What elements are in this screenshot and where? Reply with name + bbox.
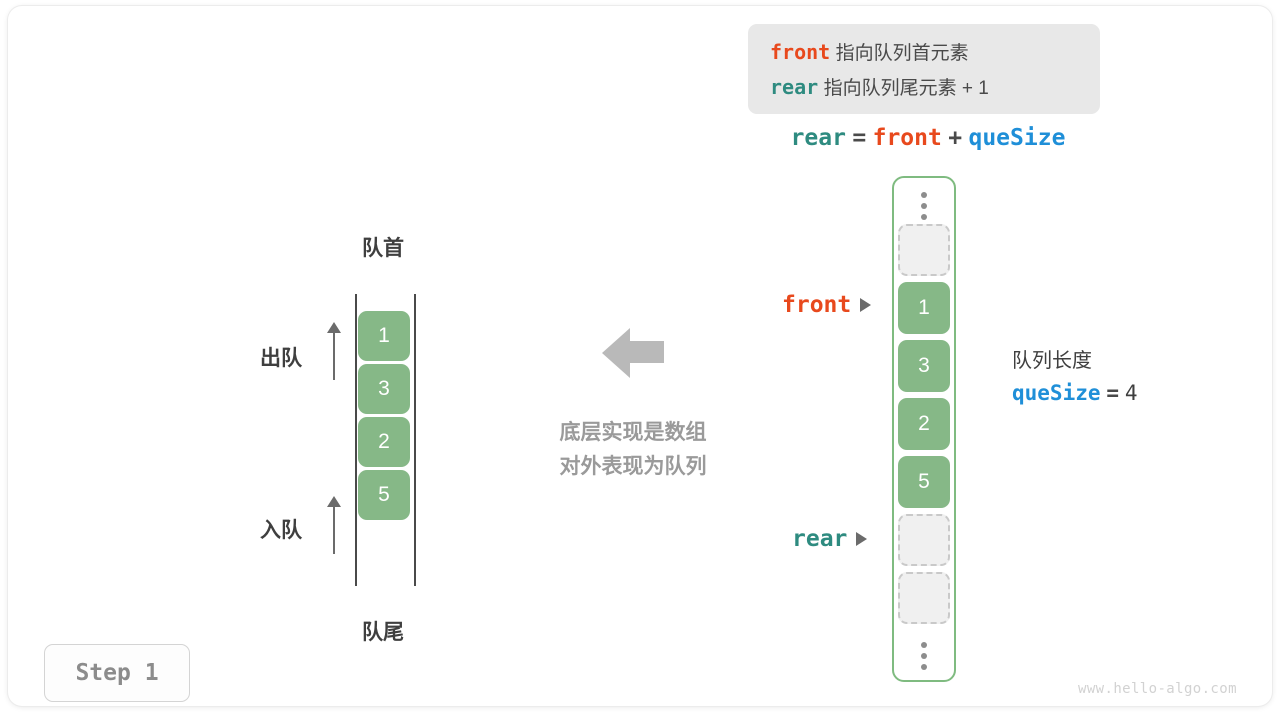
- queue-cell-3-value: 5: [378, 483, 390, 507]
- diagram-canvas: front 指向队列首元素 rear 指向队列尾元素 + 1 rear = fr…: [8, 6, 1272, 706]
- rear-pointer-label: rear: [792, 526, 847, 552]
- dequeue-label: 出队: [260, 342, 302, 372]
- arrow-right-icon: [856, 532, 867, 546]
- queue-cell-2-value: 2: [378, 430, 390, 454]
- array-container: 1 3 2 5: [892, 176, 956, 682]
- queue-cell-1: 3: [358, 364, 410, 414]
- array-cell-1: 1: [898, 282, 950, 334]
- center-caption-line1: 底层实现是数组: [508, 416, 758, 450]
- queue-cell-3: 5: [358, 470, 410, 520]
- formula-front: front: [873, 125, 942, 151]
- array-cell-4: 5: [898, 456, 950, 508]
- rear-description: 指向队列尾元素 + 1: [824, 78, 989, 99]
- queue-rail-right: [414, 294, 416, 586]
- queue-size-expression: queSize = 4: [1012, 376, 1138, 411]
- queue-size-title: 队列长度: [1012, 346, 1138, 376]
- note-line-front: front 指向队列首元素: [770, 35, 1100, 70]
- queue-head-label: 队首: [318, 232, 448, 262]
- front-pointer: front: [782, 292, 871, 318]
- note-line-rear: rear 指向队列尾元素 + 1: [770, 70, 1100, 105]
- array-cell-0: [898, 224, 950, 276]
- enqueue-label: 入队: [260, 514, 302, 544]
- center-caption-line2: 对外表现为队列: [508, 450, 758, 484]
- rear-pointer: rear: [792, 526, 867, 552]
- queue-cell-2: 2: [358, 417, 410, 467]
- pointer-definition-note: front 指向队列首元素 rear 指向队列尾元素 + 1: [748, 24, 1100, 114]
- array-cell-4-value: 5: [918, 470, 930, 494]
- array-cell-3-value: 2: [918, 412, 930, 436]
- dequeue-arrow-icon: [326, 322, 342, 380]
- front-description: 指向队列首元素: [836, 43, 969, 64]
- queue-cell-0: 1: [358, 311, 410, 361]
- array-cell-5: [898, 514, 950, 566]
- step-badge: Step 1: [44, 644, 190, 702]
- quesize-value: 4: [1125, 381, 1138, 405]
- center-caption: 底层实现是数组 对外表现为队列: [508, 416, 758, 484]
- rear-formula: rear = front + queSize: [748, 124, 1108, 151]
- enqueue-arrow-icon: [326, 496, 342, 554]
- queue-tail-label: 队尾: [318, 616, 448, 646]
- array-cell-2-value: 3: [918, 354, 930, 378]
- queue-rail-left: [355, 294, 357, 586]
- formula-rear: rear: [791, 125, 846, 151]
- arrow-right-icon: [860, 298, 871, 312]
- array-bottom-ellipsis-icon: [921, 642, 927, 670]
- queue-cell-1-value: 3: [378, 377, 390, 401]
- watermark: www.hello-algo.com: [1078, 681, 1237, 697]
- quesize-equals: =: [1106, 381, 1119, 405]
- array-top-ellipsis-icon: [921, 192, 927, 220]
- formula-quesize: queSize: [968, 125, 1065, 151]
- arrow-left-icon: [602, 328, 664, 378]
- quesize-keyword: queSize: [1012, 381, 1101, 405]
- array-cell-2: 3: [898, 340, 950, 392]
- queue-cell-0-value: 1: [378, 324, 390, 348]
- formula-equals: =: [852, 125, 866, 151]
- array-cell-1-value: 1: [918, 296, 930, 320]
- array-cell-3: 2: [898, 398, 950, 450]
- rear-keyword: rear: [770, 75, 818, 99]
- front-keyword: front: [770, 40, 830, 64]
- formula-plus: +: [948, 125, 962, 151]
- queue-size-note: 队列长度 queSize = 4: [1012, 346, 1138, 411]
- front-pointer-label: front: [782, 292, 851, 318]
- array-cell-6: [898, 572, 950, 624]
